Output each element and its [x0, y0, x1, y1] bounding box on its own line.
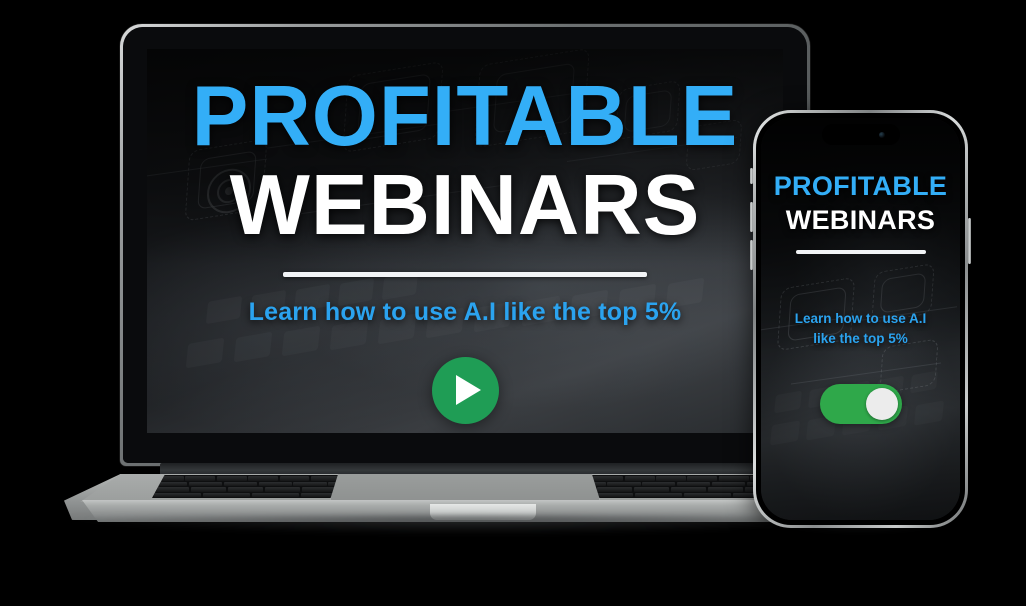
phone-subtitle-line2: like the top 5%	[813, 331, 908, 346]
play-icon	[456, 375, 481, 405]
smartphone-mockup: PROFITABLE WEBINARS Learn how to use A.I…	[753, 110, 968, 528]
volume-up-button[interactable]	[750, 202, 753, 232]
scene-root: PROFITABLE WEBINARS Learn how to use A.I…	[0, 0, 1026, 606]
play-button[interactable]	[432, 357, 499, 424]
toggle-switch[interactable]	[820, 384, 902, 424]
power-button[interactable]	[968, 218, 971, 264]
phone-screen[interactable]: PROFITABLE WEBINARS Learn how to use A.I…	[761, 118, 960, 520]
laptop-shadow	[70, 516, 870, 534]
volume-down-button[interactable]	[750, 240, 753, 270]
phone-subtitle-line1: Learn how to use A.I	[795, 311, 927, 326]
laptop-headline-line2: WEBINARS	[230, 163, 701, 248]
laptop-bezel: PROFITABLE WEBINARS Learn how to use A.I…	[123, 27, 807, 463]
laptop-divider	[283, 272, 647, 277]
phone-headline-line1: PROFITABLE	[774, 173, 948, 200]
laptop-lid: PROFITABLE WEBINARS Learn how to use A.I…	[120, 24, 810, 466]
mute-switch[interactable]	[750, 168, 753, 184]
laptop-screen-content: PROFITABLE WEBINARS Learn how to use A.I…	[147, 49, 783, 433]
phone-inner-bezel: PROFITABLE WEBINARS Learn how to use A.I…	[756, 113, 965, 525]
laptop-headline-line1: PROFITABLE	[192, 77, 739, 157]
laptop-subtitle: Learn how to use A.I like the top 5%	[249, 298, 682, 327]
camera-icon	[879, 132, 885, 138]
phone-screen-content: PROFITABLE WEBINARS Learn how to use A.I…	[761, 118, 960, 520]
laptop-lid-inner: PROFITABLE WEBINARS Learn how to use A.I…	[123, 27, 807, 463]
trackpad[interactable]	[330, 474, 600, 500]
toggle-knob	[866, 388, 898, 420]
laptop-screen[interactable]: PROFITABLE WEBINARS Learn how to use A.I…	[147, 49, 783, 433]
phone-divider	[796, 250, 926, 254]
phone-subtitle: Learn how to use A.I like the top 5%	[776, 309, 946, 348]
phone-headline-line2: WEBINARS	[786, 207, 935, 234]
phone-frame: PROFITABLE WEBINARS Learn how to use A.I…	[753, 110, 968, 528]
dynamic-island	[822, 124, 900, 145]
